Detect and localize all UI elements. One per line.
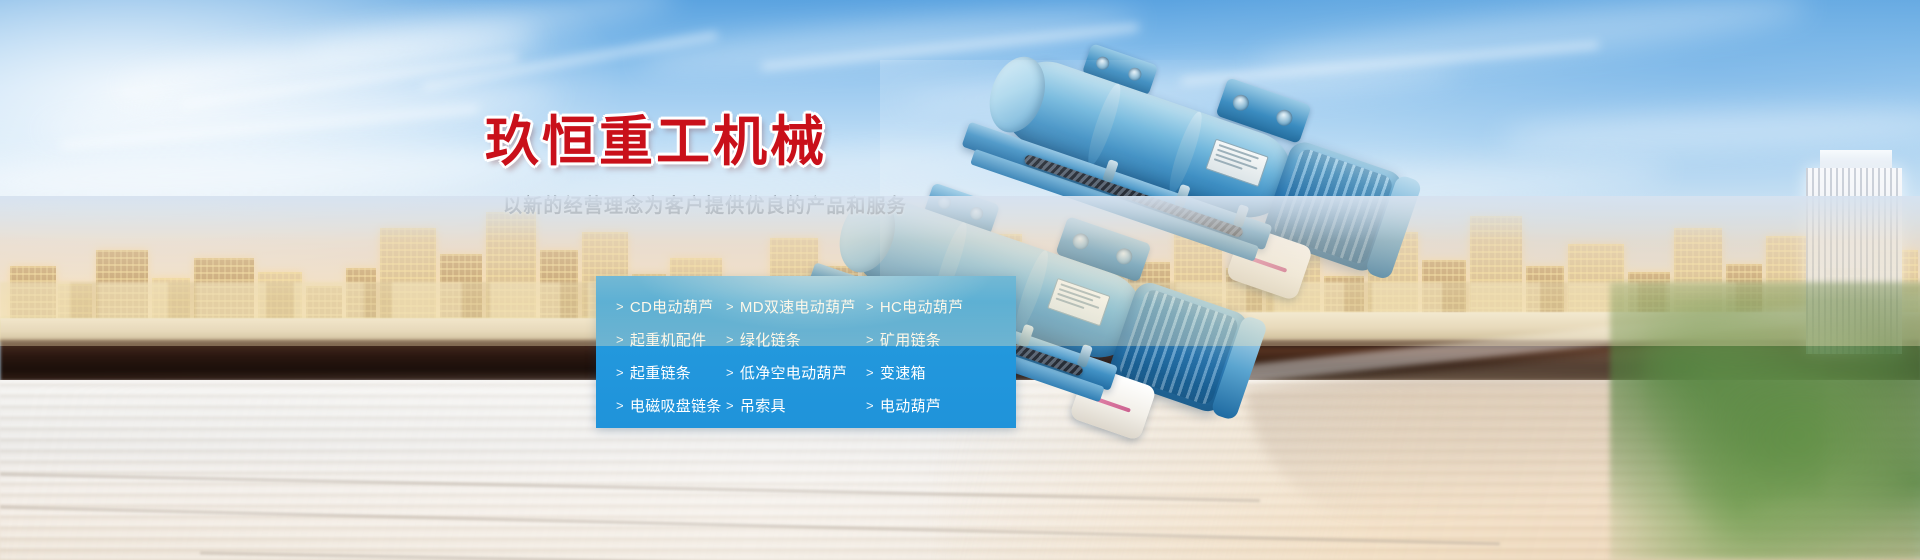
- chevron-right-icon: >: [866, 365, 874, 380]
- product-link-label: 起重机配件: [630, 329, 707, 350]
- product-link[interactable]: > 吊索具: [726, 389, 866, 422]
- chevron-right-icon: >: [616, 299, 624, 314]
- product-link[interactable]: > 起重链条: [616, 356, 726, 389]
- product-link-label: 吊索具: [740, 395, 786, 416]
- chevron-right-icon: >: [726, 365, 734, 380]
- product-link-label: 起重链条: [630, 362, 691, 383]
- product-link-label: MD双速电动葫芦: [740, 296, 856, 317]
- product-links-grid: > CD电动葫芦 > MD双速电动葫芦 > HC电动葫芦 > 起重机配件 > 绿…: [596, 276, 1016, 428]
- product-link[interactable]: > CD电动葫芦: [616, 290, 726, 323]
- chevron-right-icon: >: [866, 332, 874, 347]
- chevron-right-icon: >: [866, 299, 874, 314]
- chevron-right-icon: >: [616, 365, 624, 380]
- product-link-label: HC电动葫芦: [880, 296, 963, 317]
- hero-banner: 玖恒重工机械 以新的经营理念为客户提供优良的产品和服务 > CD电动葫芦 > M…: [0, 0, 1920, 560]
- product-link-label: 电磁吸盘链条: [630, 395, 722, 416]
- chevron-right-icon: >: [616, 398, 624, 413]
- product-links-panel: > CD电动葫芦 > MD双速电动葫芦 > HC电动葫芦 > 起重机配件 > 绿…: [596, 276, 1016, 428]
- product-link[interactable]: > MD双速电动葫芦: [726, 290, 866, 323]
- banner-subtitle: 以新的经营理念为客户提供优良的产品和服务: [503, 191, 1045, 218]
- product-link[interactable]: > 矿用链条: [866, 323, 1016, 356]
- product-link[interactable]: > 绿化链条: [726, 323, 866, 356]
- chevron-right-icon: >: [616, 332, 624, 347]
- product-link-label: 低净空电动葫芦: [740, 362, 847, 383]
- product-link[interactable]: > 低净空电动葫芦: [726, 356, 866, 389]
- product-link[interactable]: > 变速箱: [866, 356, 1016, 389]
- product-link-label: CD电动葫芦: [630, 296, 713, 317]
- product-link[interactable]: > 起重机配件: [616, 323, 726, 356]
- chevron-right-icon: >: [726, 332, 734, 347]
- product-link-label: 绿化链条: [740, 329, 801, 350]
- product-link[interactable]: > 电动葫芦: [866, 389, 1016, 422]
- product-link-label: 电动葫芦: [880, 395, 941, 416]
- chevron-right-icon: >: [866, 398, 874, 413]
- tree-foliage: [1610, 282, 1920, 560]
- chevron-right-icon: >: [726, 299, 734, 314]
- chevron-right-icon: >: [726, 398, 734, 413]
- product-link[interactable]: > 电磁吸盘链条: [616, 389, 726, 422]
- skyscraper-crown: [1820, 150, 1892, 170]
- product-link-label: 矿用链条: [880, 329, 941, 350]
- product-link-label: 变速箱: [880, 362, 926, 383]
- banner-text-block: 玖恒重工机械 以新的经营理念为客户提供优良的产品和服务: [485, 112, 1045, 218]
- page-title: 玖恒重工机械: [485, 112, 1045, 171]
- product-link[interactable]: > HC电动葫芦: [866, 290, 1016, 323]
